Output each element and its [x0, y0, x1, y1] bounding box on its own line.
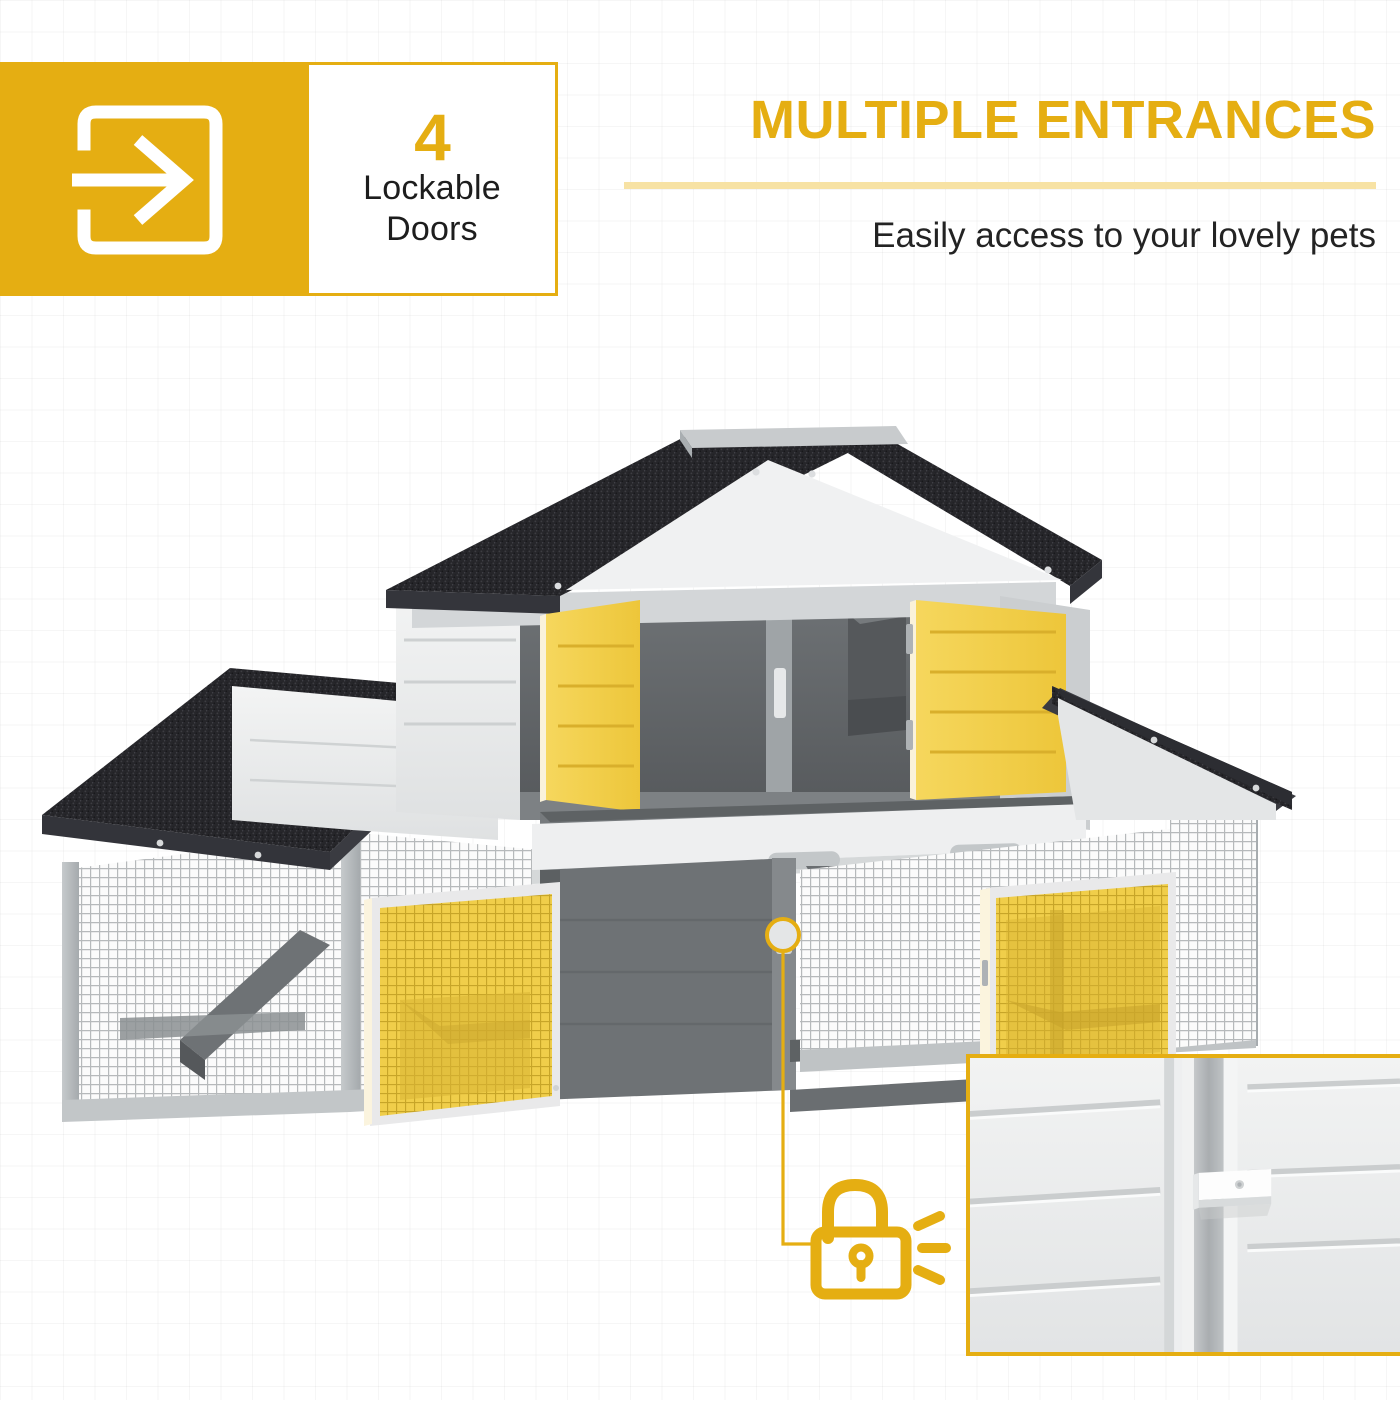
gable-roof — [386, 426, 1102, 614]
page-subtitle: Easily access to your lovely pets — [624, 216, 1376, 256]
title-divider — [624, 182, 1376, 189]
latch-bar — [1193, 1169, 1271, 1210]
badge-text-box: 4 Lockable Doors — [306, 62, 558, 296]
title-block: MULTIPLE ENTRANCES Easily access to your… — [624, 92, 1376, 256]
enter-door-arrow-icon — [62, 92, 238, 268]
upper-door-right — [906, 600, 1066, 800]
lean-to-roof-right — [1042, 686, 1296, 820]
upper-door-left — [540, 600, 640, 812]
unlocked-padlock-icon — [806, 1172, 956, 1304]
page-title: MULTIPLE ENTRANCES — [624, 92, 1376, 149]
run-door-left-mesh — [364, 882, 560, 1126]
badge-label-line1: Lockable — [363, 168, 501, 209]
badge-label-line2: Doors — [386, 209, 478, 250]
badge-number: 4 — [414, 107, 450, 168]
door-latch-closeup — [966, 1054, 1400, 1356]
